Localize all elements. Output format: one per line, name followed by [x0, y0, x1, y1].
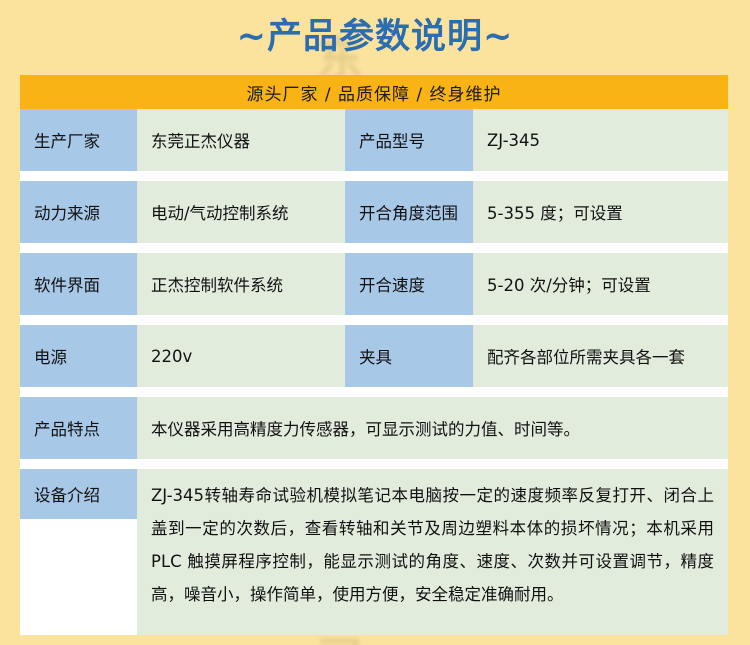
row-divider [20, 243, 728, 253]
table-row-features: 产品特点 本仪器采用高精度力传感器，可显示测试的力值、时间等。 [20, 397, 728, 459]
row-label-features: 产品特点 [20, 397, 137, 459]
row-value-fixture: 配齐各部位所需夹具各一套 [473, 325, 728, 387]
promo-banner-text: 源头厂家 / 品质保障 / 终身维护 [246, 80, 501, 105]
table-row: 软件界面 正杰控制软件系统 开合速度 5-20 次/分钟；可设置 [20, 253, 728, 315]
row-value-power-supply: 220v [137, 325, 345, 387]
row-value-features: 本仪器采用高精度力传感器，可显示测试的力值、时间等。 [137, 397, 728, 459]
row-value-description: ZJ-345转轴寿命试验机模拟笔记本电脑按一定的速度频率反复打开、闭合上盖到一定… [137, 469, 728, 635]
row-value-power-source: 电动/气动控制系统 [137, 181, 345, 243]
row-label-manufacturer: 生产厂家 [20, 109, 137, 171]
row-label-power-supply: 电源 [20, 325, 137, 387]
table-row: 动力来源 电动/气动控制系统 开合角度范围 5-355 度；可设置 [20, 181, 728, 243]
description-label-column: 设备介绍 [20, 469, 137, 635]
row-value-software: 正杰控制软件系统 [137, 253, 345, 315]
row-value-model: ZJ-345 [473, 109, 728, 171]
row-divider [20, 459, 728, 469]
page-title: ~产品参数说明~ [237, 17, 514, 57]
row-label-angle-range: 开合角度范围 [345, 181, 473, 243]
row-label-power-source: 动力来源 [20, 181, 137, 243]
row-divider [20, 171, 728, 181]
row-divider [20, 315, 728, 325]
row-label-model: 产品型号 [345, 109, 473, 171]
row-label-description: 设备介绍 [20, 469, 137, 519]
table-row: 电源 220v 夹具 配齐各部位所需夹具各一套 [20, 325, 728, 387]
parameter-table: 源头厂家 / 品质保障 / 终身维护 生产厂家 东莞正杰仪器 产品型号 ZJ-3… [20, 75, 728, 635]
row-label-software: 软件界面 [20, 253, 137, 315]
row-label-fixture: 夹具 [345, 325, 473, 387]
promo-banner: 源头厂家 / 品质保障 / 终身维护 [20, 75, 728, 109]
row-divider [20, 387, 728, 397]
row-value-manufacturer: 东莞正杰仪器 [137, 109, 345, 171]
table-row-description: 设备介绍 ZJ-345转轴寿命试验机模拟笔记本电脑按一定的速度频率反复打开、闭合… [20, 469, 728, 635]
page-title-bar: ~产品参数说明~ [0, 8, 750, 59]
row-value-speed: 5-20 次/分钟；可设置 [473, 253, 728, 315]
row-value-angle-range: 5-355 度；可设置 [473, 181, 728, 243]
row-label-speed: 开合速度 [345, 253, 473, 315]
table-row: 生产厂家 东莞正杰仪器 产品型号 ZJ-345 [20, 109, 728, 171]
